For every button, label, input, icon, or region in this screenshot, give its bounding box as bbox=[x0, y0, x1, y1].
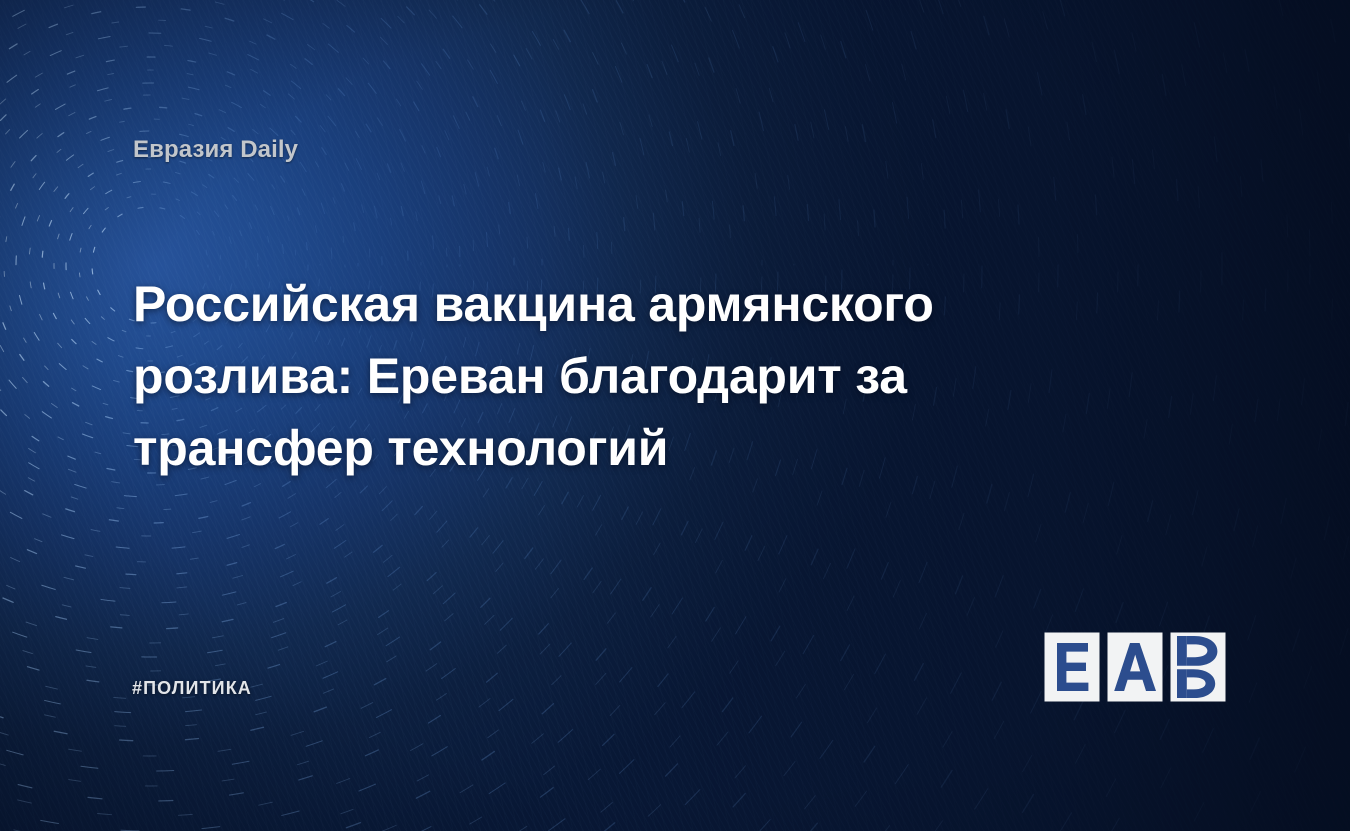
eadaily-logo bbox=[1044, 632, 1230, 702]
category-tag: #ПОЛИТИКА bbox=[132, 678, 252, 699]
page-title: Российская вакцина армянского розлива: Е… bbox=[133, 268, 1053, 484]
brand-name: Евразия Daily bbox=[133, 136, 298, 164]
share-card: Евразия Daily Российская вакцина армянск… bbox=[0, 0, 1350, 831]
